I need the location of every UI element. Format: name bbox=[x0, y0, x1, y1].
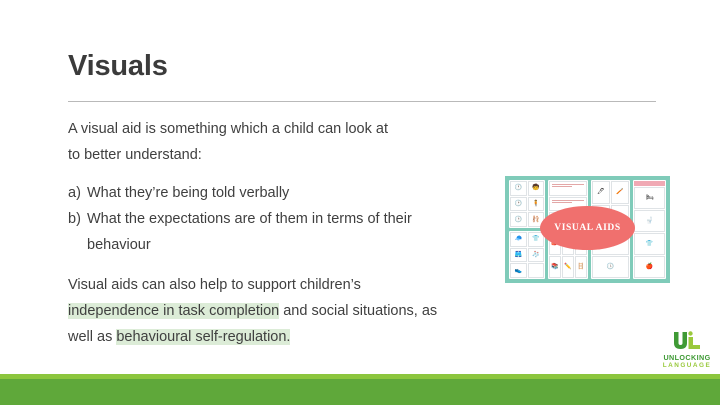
intro-line-2: to better understand: bbox=[68, 142, 388, 168]
visual-aids-badge: VISUAL AIDS bbox=[540, 206, 635, 250]
list-marker: a) bbox=[68, 180, 87, 206]
collage-panel-morning-routine: 🛏 🚽 👕 🍎 bbox=[633, 180, 666, 279]
collage-cell-icon: 🍎 bbox=[634, 256, 665, 278]
collage-cell-icon: 🧒 bbox=[528, 181, 545, 196]
ordered-list: a) What they’re being told verbally b) W… bbox=[68, 180, 462, 258]
page-title: Visuals bbox=[68, 52, 168, 81]
intro-paragraph: A visual aid is something which a child … bbox=[68, 116, 388, 168]
closing-segment-plain: Visual aids can also help to support chi… bbox=[68, 277, 361, 293]
collage-cell-icon: ✏️ bbox=[562, 256, 574, 279]
collage-panel-clothing: 🧢 👕 🩳 🧦 👟 bbox=[509, 231, 545, 279]
collage-cell-icon: 🪥 bbox=[611, 181, 629, 204]
collage-cell-icon: 🩳 bbox=[510, 248, 527, 263]
title-divider bbox=[68, 101, 656, 102]
collage-cell-icon: 🕒 bbox=[510, 212, 527, 227]
collage-cell-icon: 🕑 bbox=[510, 197, 527, 212]
closing-highlight-self-regulation: behavioural self-regulation. bbox=[116, 329, 290, 345]
collage-cell-icon: 🖊 bbox=[592, 181, 610, 204]
list-item: b) What the expectations are of them in … bbox=[68, 206, 462, 258]
logo-text-unlocking: UNLOCKING bbox=[660, 353, 714, 362]
collage-cell-icon: 🕓 bbox=[592, 256, 630, 279]
closing-paragraph: Visual aids can also help to support chi… bbox=[68, 272, 448, 350]
closing-highlight-independence: independence in task completion bbox=[68, 303, 279, 319]
list-item-label: What the expectations are of them in ter… bbox=[87, 206, 462, 258]
collage-cell-line bbox=[549, 181, 587, 196]
brand-logo: UNLOCKING LANGUAGE bbox=[660, 328, 714, 370]
collage-cell-icon: 👕 bbox=[634, 233, 665, 255]
collage-cell-icon: 🕐 bbox=[510, 181, 527, 196]
collage-cell-icon: 📚 bbox=[549, 256, 561, 279]
collage-panel-clock-routine: 🕐 🧒 🕑 🧍 🕒 🩰 bbox=[509, 180, 545, 228]
collage-panel-header bbox=[634, 181, 665, 186]
logo-monogram-icon bbox=[660, 328, 714, 352]
intro-line-1: A visual aid is something which a child … bbox=[68, 116, 388, 142]
collage-cell-icon: 🚽 bbox=[634, 210, 665, 232]
slide-canvas: Visuals A visual aid is something which … bbox=[0, 0, 720, 405]
collage-cell-icon: 🧍 bbox=[528, 197, 545, 212]
collage-cell-icon: 🧢 bbox=[510, 232, 527, 247]
collage-cell-icon bbox=[528, 263, 545, 278]
list-marker: b) bbox=[68, 206, 87, 232]
logo-text-language: LANGUAGE bbox=[660, 362, 714, 370]
collage-cell-icon: 🪜 bbox=[575, 256, 587, 279]
collage-cell-icon: 🛏 bbox=[634, 187, 665, 209]
ul-monogram-icon bbox=[671, 330, 703, 352]
collage-cell-icon: 👟 bbox=[510, 263, 527, 278]
collage-cell-icon: 🧦 bbox=[528, 248, 545, 263]
footer-bar-dark bbox=[0, 379, 720, 405]
list-item: a) What they’re being told verbally bbox=[68, 180, 462, 206]
list-item-label: What they’re being told verbally bbox=[87, 180, 289, 206]
